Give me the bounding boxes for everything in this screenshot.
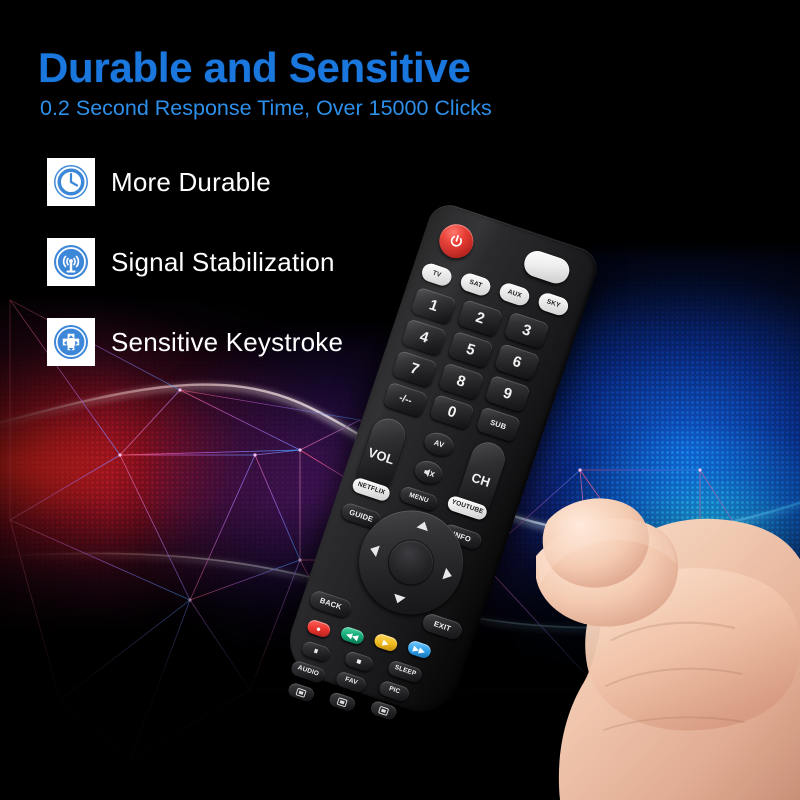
feature-label: Sensitive Keystroke (111, 327, 343, 358)
key-5[interactable]: 5 (447, 331, 494, 369)
exit-button[interactable]: EXIT (420, 612, 464, 642)
key-1[interactable]: 1 (410, 287, 457, 325)
play-key[interactable]: ▶ (373, 632, 399, 653)
key-sub[interactable]: SUB (475, 406, 521, 442)
product-feature-image: Durable and Sensitive 0.2 Second Respons… (0, 0, 800, 800)
feature-item-sensitive-keystroke: Sensitive Keystroke (47, 318, 343, 366)
mode-button-sat[interactable]: SAT (458, 271, 492, 298)
feature-label: More Durable (111, 167, 271, 198)
mode-button-tv[interactable]: TV (420, 261, 454, 288)
forward-key[interactable]: ▶▶ (406, 639, 432, 660)
page-subtitle: 0.2 Second Response Time, Over 15000 Cli… (40, 97, 658, 121)
stop-key[interactable]: ■ (343, 650, 374, 673)
feature-item-signal-stabilization: Signal Stabilization (47, 238, 343, 286)
av-button[interactable]: AV (421, 429, 456, 459)
secondary-power-button[interactable] (521, 248, 573, 287)
key-dash-dash[interactable]: -/-- (382, 382, 428, 418)
rewind-key[interactable]: ◀◀ (339, 625, 365, 646)
dpad-right-icon[interactable] (442, 568, 453, 582)
heading-block: Durable and Sensitive 0.2 Second Respons… (38, 46, 658, 120)
page-title: Durable and Sensitive (38, 46, 658, 91)
feature-item-more-durable: More Durable (47, 158, 343, 206)
clock-icon (47, 158, 95, 206)
key-2[interactable]: 2 (457, 299, 504, 337)
key-0[interactable]: 0 (429, 394, 475, 430)
power-icon (446, 231, 466, 251)
key-6[interactable]: 6 (494, 343, 541, 381)
key-9[interactable]: 9 (484, 375, 531, 413)
screen-format-icon-3[interactable] (369, 700, 398, 722)
feature-label: Signal Stabilization (111, 247, 335, 278)
screen-format-icon-2[interactable] (328, 691, 357, 713)
power-button[interactable] (435, 220, 478, 263)
mode-button-sky[interactable]: SKY (536, 291, 570, 318)
back-button[interactable]: BACK (308, 589, 354, 619)
ok-button[interactable] (383, 535, 439, 591)
feature-list: More Durable Signal St (47, 158, 343, 366)
mute-icon (420, 464, 436, 480)
audio-button[interactable]: AUDIO (290, 659, 327, 684)
dpad-icon (47, 318, 95, 366)
fav-button[interactable]: FAV (334, 670, 367, 694)
key-3[interactable]: 3 (503, 311, 550, 349)
screen-format-icon-1[interactable] (287, 682, 316, 704)
mode-button-aux[interactable]: AUX (497, 281, 531, 308)
pic-button[interactable]: PIC (378, 679, 411, 703)
pause-key[interactable]: ⏸ (300, 640, 331, 663)
key-8[interactable]: 8 (438, 362, 485, 400)
record-key[interactable]: ● (306, 618, 332, 639)
mute-button[interactable] (412, 457, 446, 487)
sleep-key[interactable]: SLEEP (387, 659, 424, 684)
dpad-left-icon[interactable] (368, 543, 379, 557)
dpad-up-icon[interactable] (416, 520, 430, 531)
key-4[interactable]: 4 (401, 318, 448, 356)
key-7[interactable]: 7 (391, 350, 438, 388)
signal-icon (47, 238, 95, 286)
dpad-down-icon[interactable] (392, 594, 406, 605)
menu-button[interactable]: MENU (398, 485, 439, 512)
